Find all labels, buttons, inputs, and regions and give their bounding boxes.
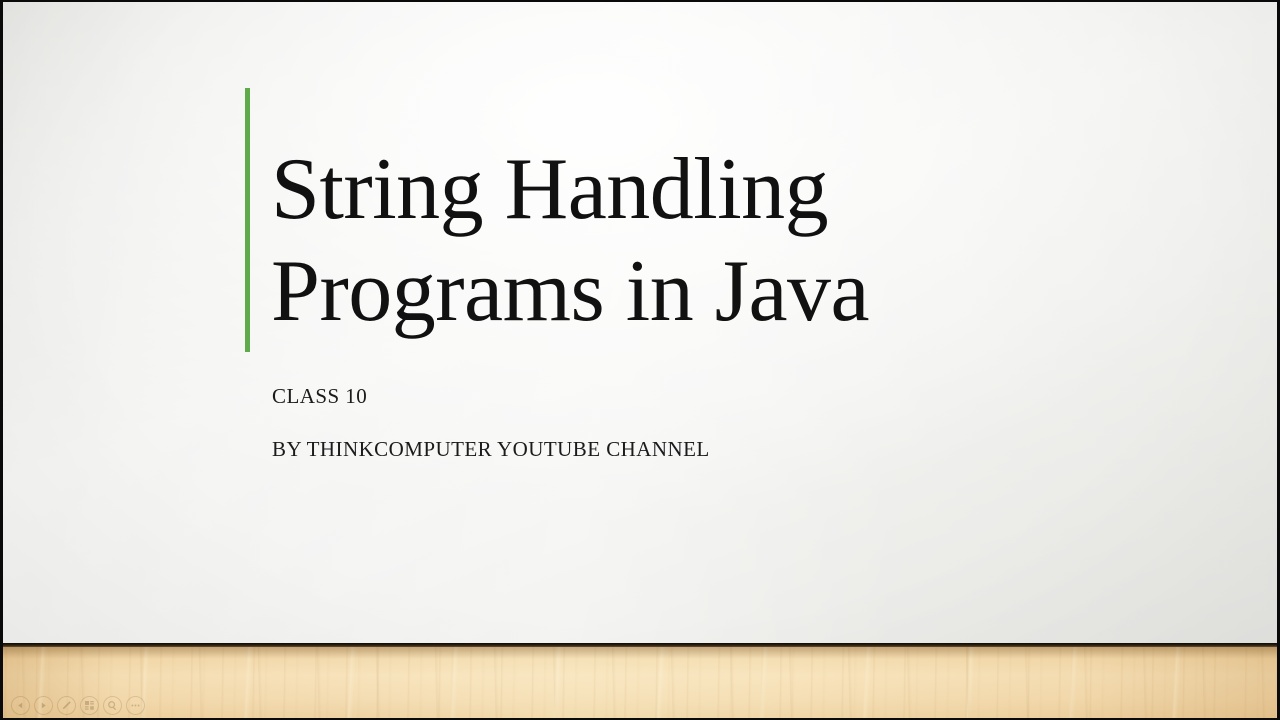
triangle-right-icon (39, 701, 48, 710)
previous-slide-button[interactable] (11, 696, 30, 715)
magnifier-icon (107, 700, 118, 711)
subtitle-author: By ThinkComputer YouTube Channel (272, 436, 1092, 463)
frame-edge-top (0, 0, 1280, 2)
title-accent-bar (245, 88, 250, 352)
slide-background-floor (0, 643, 1280, 720)
subtitle-class: Class 10 (272, 383, 1092, 410)
grid-icon (84, 700, 95, 711)
all-slides-button[interactable] (80, 696, 99, 715)
presenter-toolbar[interactable] (11, 696, 145, 715)
more-options-button[interactable] (126, 696, 145, 715)
ellipsis-icon (130, 700, 141, 711)
pen-icon (61, 700, 72, 711)
triangle-left-icon (16, 701, 25, 710)
floor-wood-grain-fine (0, 643, 1280, 720)
subtitle-block: Class 10 By ThinkComputer YouTube Channe… (272, 383, 1092, 463)
floor-wood-grain-light (0, 643, 1280, 720)
next-slide-button[interactable] (34, 696, 53, 715)
frame-edge-left (0, 0, 3, 720)
pen-tools-button[interactable] (57, 696, 76, 715)
title-block: String Handling Programs in Java (271, 139, 1151, 343)
zoom-slide-button[interactable] (103, 696, 122, 715)
presentation-slide[interactable]: String Handling Programs in Java Class 1… (0, 0, 1280, 720)
floor-wood-grain-dark (0, 643, 1280, 720)
page-title: String Handling Programs in Java (271, 139, 1151, 343)
wall-floor-junction (0, 643, 1280, 647)
